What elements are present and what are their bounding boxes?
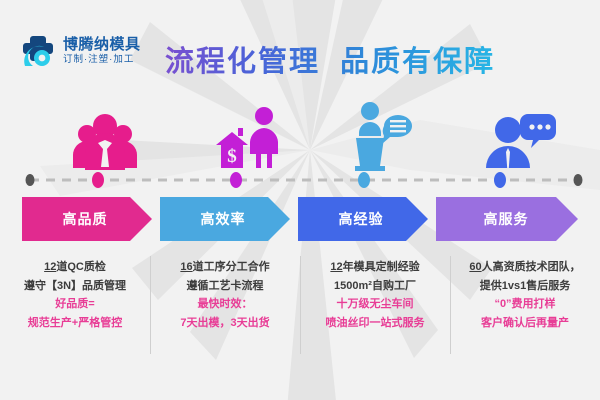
detail-line-accent: 规范生产+严格管控 (0, 314, 150, 333)
brand-tagline: 订制·注塑·加工 (63, 55, 141, 65)
detail-line-accent: “0”费用打样 (450, 295, 600, 314)
stage-icons-row: $ (0, 96, 600, 176)
infographic-canvas: 博腾纳模具 订制·注塑·加工 流程化管理 品质有保障 (0, 0, 600, 400)
brand-logo: 博腾纳模具 订制·注塑·加工 (22, 33, 141, 69)
stage-column-2: 16道工序分工合作 遵循工艺卡流程 最快时效： 7天出模，3天出货 (150, 250, 300, 370)
detail-line: 12年模具定制经验 (300, 258, 450, 277)
detail-line: 60人高资质技术团队， (450, 258, 600, 277)
person-chat-icon (450, 96, 590, 176)
detail-line: 提供1vs1售后服务 (450, 277, 600, 296)
ribbon-label-4: 高服务 (436, 196, 576, 242)
stage-column-1: 12道QC质检 遵守【3N】品质管理 好品质= 规范生产+严格管控 (0, 250, 150, 370)
ribbon-label-1: 高品质 (15, 196, 155, 242)
detail-line-accent: 十万级无尘车间 (300, 295, 450, 314)
stage-ribbon: 高品质 高效率 高经验 高服务 (0, 196, 600, 242)
speaker-podium-icon (315, 96, 455, 176)
detail-line-accent: 好品质= (0, 295, 150, 314)
detail-line: 16道工序分工合作 (150, 258, 300, 277)
detail-line: 1500m²自购工厂 (300, 277, 450, 296)
svg-text:$: $ (227, 146, 237, 167)
stage-column-4: 60人高资质技术团队， 提供1vs1售后服务 “0”费用打样 客户确认后再量产 (450, 250, 600, 370)
page-title: 流程化管理 品质有保障 (165, 38, 495, 80)
detail-line-accent: 客户确认后再量产 (450, 314, 600, 333)
detail-line-accent: 7天出模，3天出货 (150, 314, 300, 333)
detail-line: 12道QC质检 (0, 258, 150, 277)
detail-line-accent: 喷油丝印一站式服务 (300, 314, 450, 333)
stage-details: 12道QC质检 遵守【3N】品质管理 好品质= 规范生产+严格管控 16道工序分… (0, 250, 600, 370)
brand-name: 博腾纳模具 (63, 37, 141, 52)
detail-line: 遵循工艺卡流程 (150, 277, 300, 296)
detail-line: 遵守【3N】品质管理 (0, 277, 150, 296)
ribbon-label-3: 高经验 (291, 196, 431, 242)
house-dollar-person-icon: $ (178, 96, 318, 176)
group-people-icon (35, 96, 175, 176)
cross-swoosh-logo-icon (22, 33, 56, 69)
stage-column-3: 12年模具定制经验 1500m²自购工厂 十万级无尘车间 喷油丝印一站式服务 (300, 250, 450, 370)
ribbon-label-2: 高效率 (153, 196, 293, 242)
detail-line-accent: 最快时效： (150, 295, 300, 314)
